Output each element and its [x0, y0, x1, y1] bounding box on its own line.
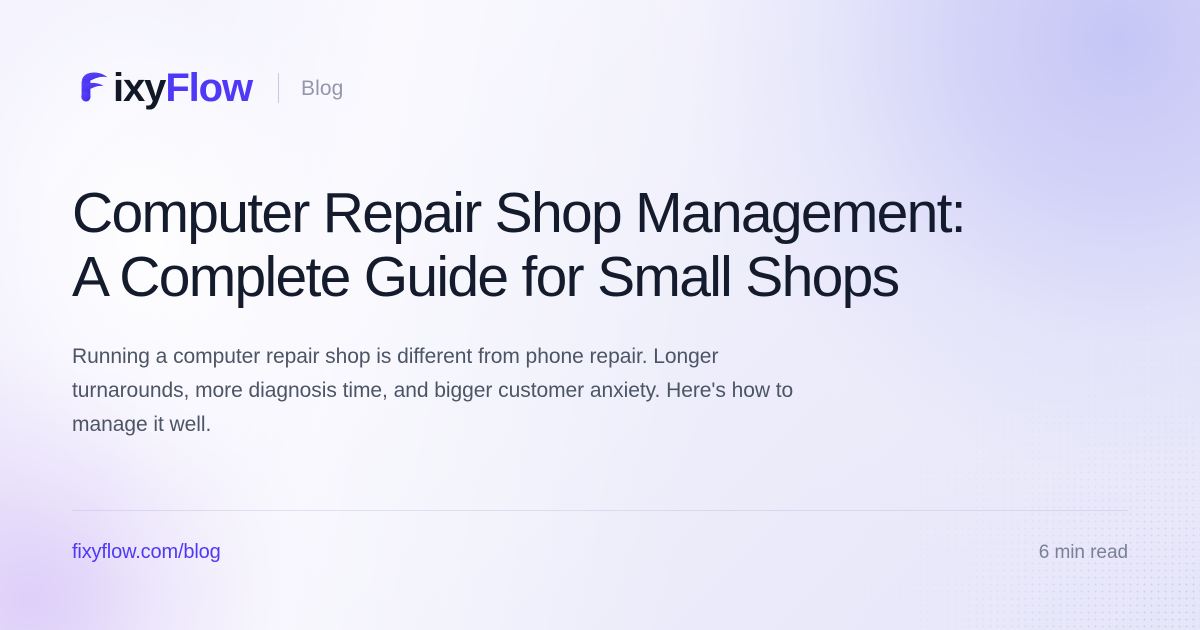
- page-description-line-2: turnarounds, more diagnosis time, and bi…: [72, 374, 972, 408]
- page-title-line-1: Computer Repair Shop Management:: [72, 182, 1072, 246]
- card-content: ixy Flow Blog Computer Repair Shop Manag…: [0, 0, 1200, 630]
- logo-lockup[interactable]: ixy Flow: [72, 66, 252, 110]
- footer-divider: [72, 510, 1128, 511]
- site-url-link[interactable]: fixyflow.com/blog: [72, 542, 221, 562]
- page-description: Running a computer repair shop is differ…: [72, 340, 972, 442]
- fixyflow-f-swoosh-logo-icon: [72, 66, 116, 110]
- page-title: Computer Repair Shop Management: A Compl…: [72, 182, 1072, 309]
- brand-row: ixy Flow Blog: [72, 62, 343, 114]
- section-label[interactable]: Blog: [301, 78, 343, 99]
- page-description-line-3: manage it well.: [72, 408, 972, 442]
- wordmark-primary: ixy: [113, 68, 165, 108]
- page-description-line-1: Running a computer repair shop is differ…: [72, 340, 972, 374]
- page-title-line-2: A Complete Guide for Small Shops: [72, 246, 1072, 310]
- read-time-label: 6 min read: [1039, 543, 1128, 562]
- wordmark: ixy Flow: [113, 68, 252, 108]
- wordmark-accent: Flow: [165, 68, 252, 108]
- brand-divider: [278, 73, 279, 103]
- card-footer: fixyflow.com/blog 6 min read: [72, 534, 1128, 570]
- blog-share-card: ixy Flow Blog Computer Repair Shop Manag…: [0, 0, 1200, 630]
